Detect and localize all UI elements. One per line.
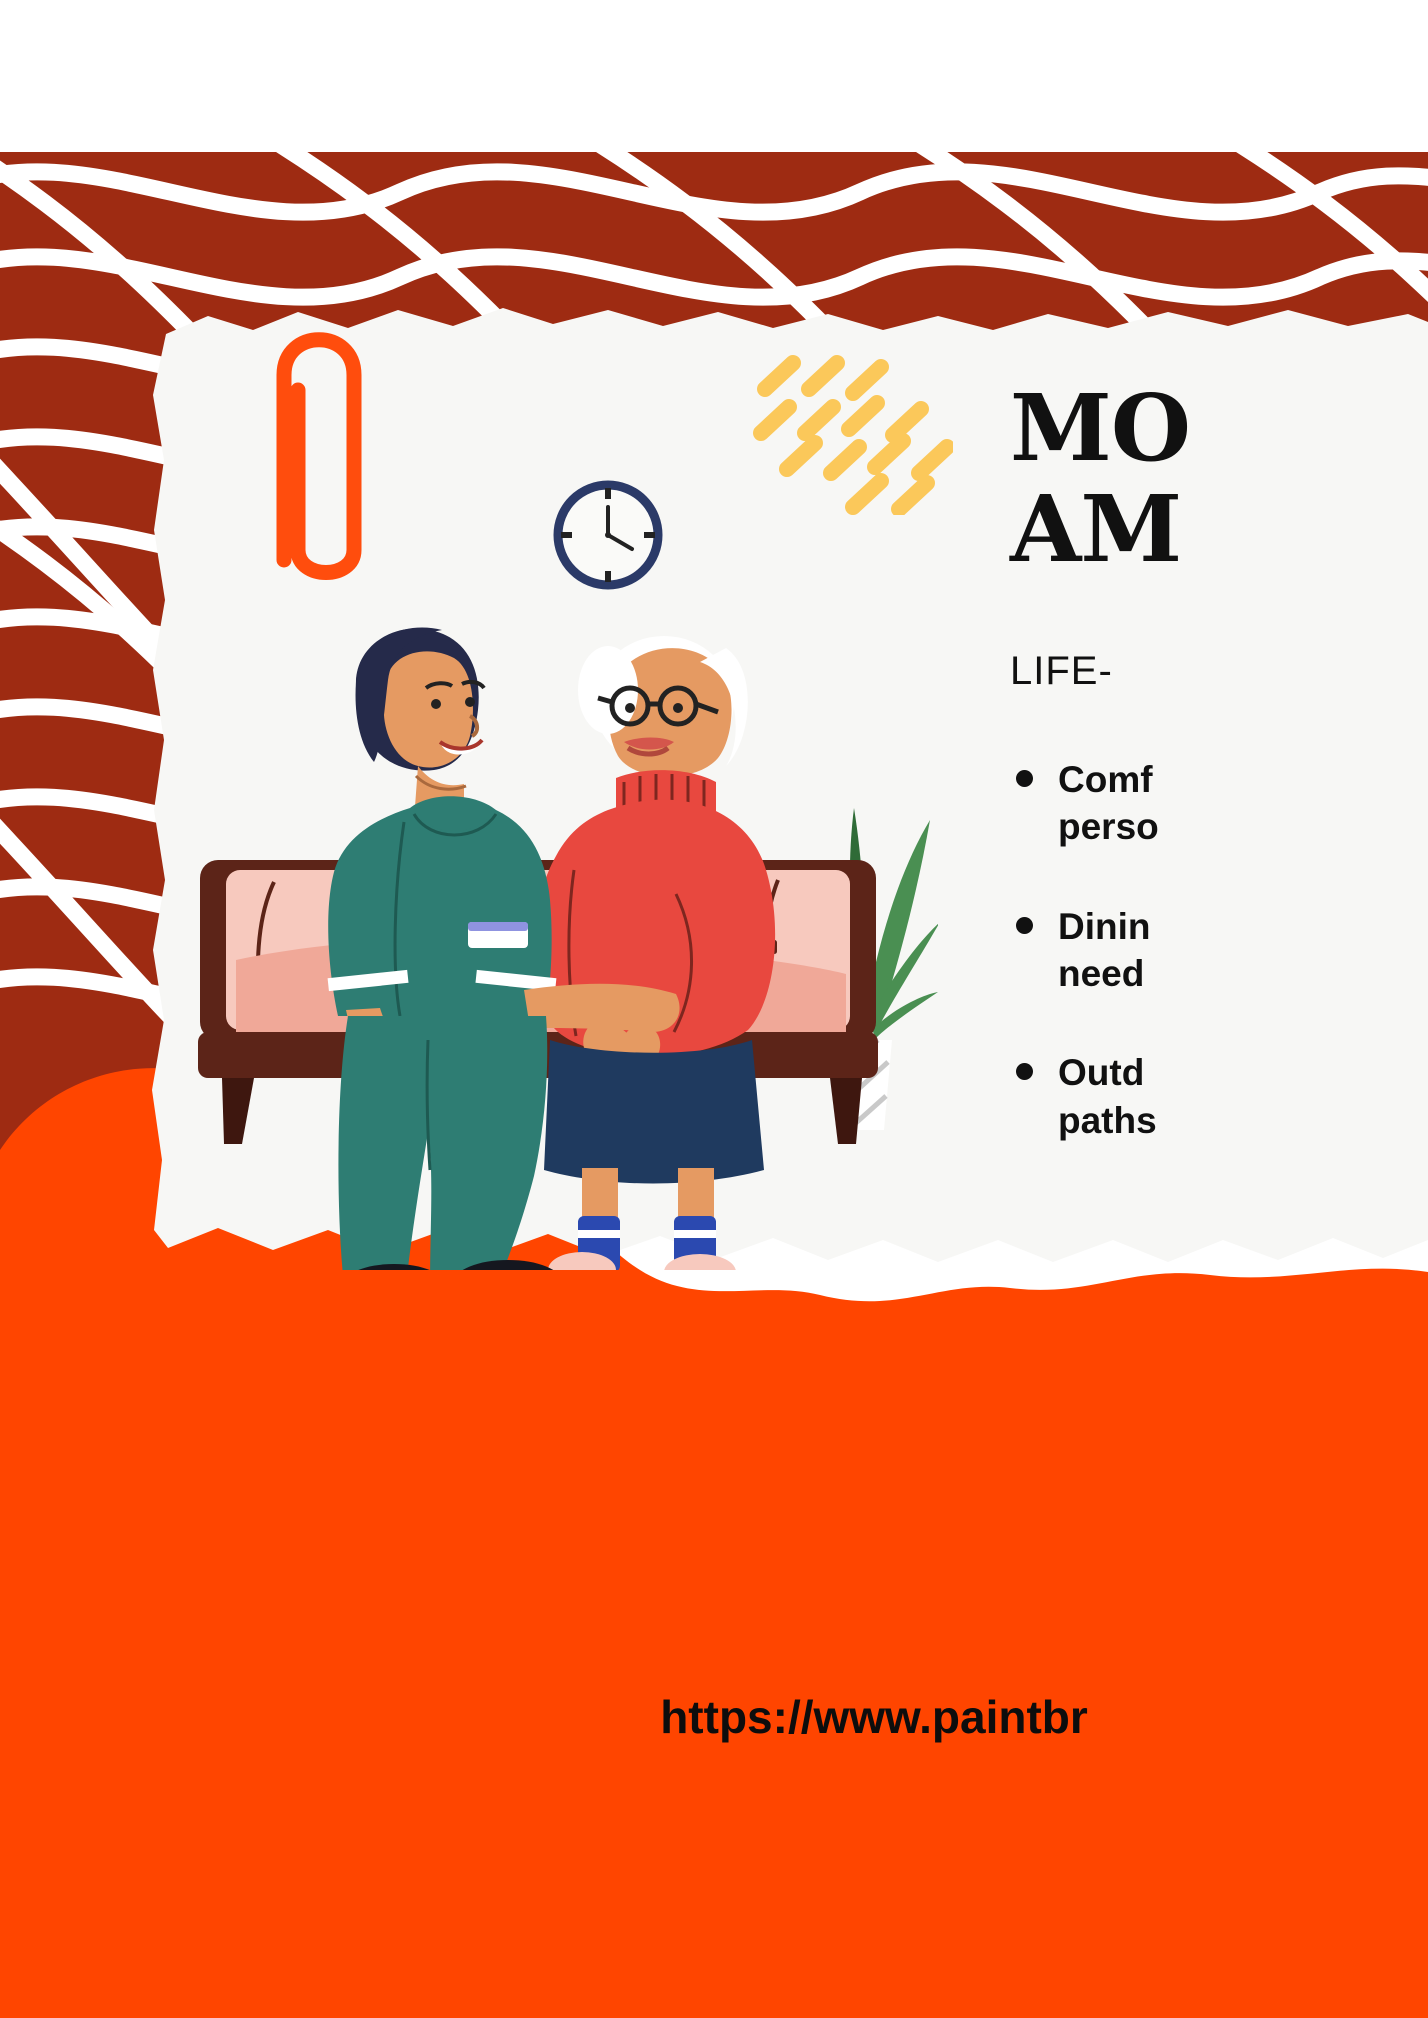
bullet-dot-icon [1016, 770, 1033, 787]
page-title: MO AM [1010, 385, 1428, 574]
list-item: Comfperso [1010, 756, 1428, 851]
care-scene-svg [178, 570, 938, 1270]
yellow-dashes-svg [753, 355, 953, 515]
headline-line-2: AM [1010, 486, 1428, 573]
list-item: Outdpaths [1010, 1049, 1428, 1144]
text-column: MO AM LIFE- Comfperso Dininneed Outdpath… [1010, 385, 1428, 1196]
paperclip-svg [258, 280, 368, 580]
headline-line-1: MO [1010, 374, 1190, 482]
poster-canvas: MO AM LIFE- Comfperso Dininneed Outdpath… [0, 0, 1428, 2018]
feature-list: Comfperso Dininneed Outdpaths [1010, 756, 1428, 1144]
website-url[interactable]: https://www.paintbr [0, 1690, 1428, 1744]
care-scene-illustration [178, 570, 938, 1270]
list-item: Dininneed [1010, 903, 1428, 998]
top-white-margin [0, 0, 1428, 152]
yellow-dashes-decoration [753, 355, 953, 515]
list-item-text: Comfperso [1058, 759, 1159, 847]
bullet-dot-icon [1016, 1063, 1033, 1080]
paperclip-icon [258, 280, 368, 580]
list-item-text: Dininneed [1058, 906, 1150, 994]
elderly-woman-character-illustration [534, 636, 775, 1270]
subtitle: LIFE- [1010, 649, 1428, 694]
list-item-text: Outdpaths [1058, 1052, 1157, 1140]
bullet-dot-icon [1016, 917, 1033, 934]
